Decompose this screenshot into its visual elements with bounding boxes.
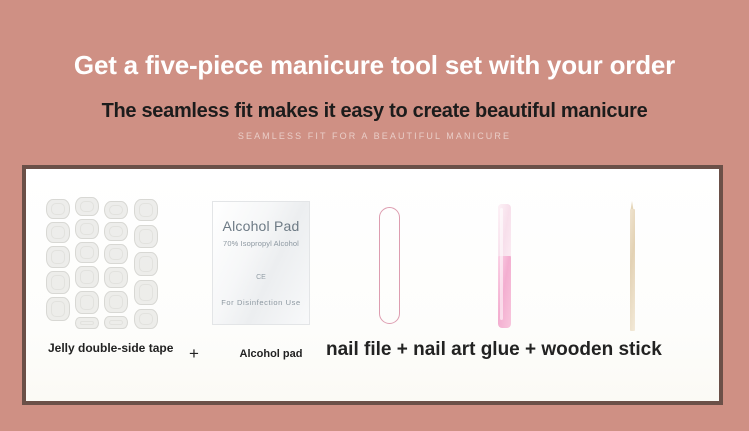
nail-art-glue-image (498, 204, 511, 328)
caption-tools-list: nail file + nail art glue + wooden stick (326, 338, 716, 362)
alcohol-pad-subtitle: 70% Isopropyl Alcohol (213, 239, 309, 248)
tape-column (134, 197, 160, 329)
alcohol-pad-usage: For Disinfection Use (213, 298, 309, 307)
product-images-row: Alcohol Pad 70% Isopropyl Alcohol CE For… (26, 169, 719, 341)
glue-highlight (500, 208, 503, 320)
tape-column (75, 197, 101, 329)
product-panel-inner: Alcohol Pad 70% Isopropyl Alcohol CE For… (26, 169, 719, 401)
wooden-stick-image (630, 201, 635, 331)
caption-alcohol-pad: Alcohol pad (216, 348, 326, 362)
page-title: Get a five-piece manicure tool set with … (0, 50, 749, 81)
ce-mark: CE (213, 274, 309, 281)
product-captions-row: Jelly double-side tape + Alcohol pad nai… (26, 335, 719, 387)
nail-file-image (379, 207, 400, 324)
faint-caption: SEAMLESS FIT FOR A BEAUTIFUL MANICURE (0, 131, 749, 141)
caption-plus: + (174, 343, 214, 364)
subheadline: The seamless fit makes it easy to create… (0, 100, 749, 123)
caption-jelly-tape: Jelly double-side tape (48, 341, 176, 356)
promo-banner: Get a five-piece manicure tool set with … (0, 0, 749, 431)
jelly-double-side-tape-image (46, 197, 164, 329)
alcohol-pad-image: Alcohol Pad 70% Isopropyl Alcohol CE For… (212, 201, 310, 325)
alcohol-pad-title: Alcohol Pad (213, 218, 309, 234)
tape-column (46, 197, 72, 329)
wooden-stick-body (630, 209, 635, 331)
tape-column (104, 197, 130, 329)
product-panel: Alcohol Pad 70% Isopropyl Alcohol CE For… (22, 165, 723, 405)
